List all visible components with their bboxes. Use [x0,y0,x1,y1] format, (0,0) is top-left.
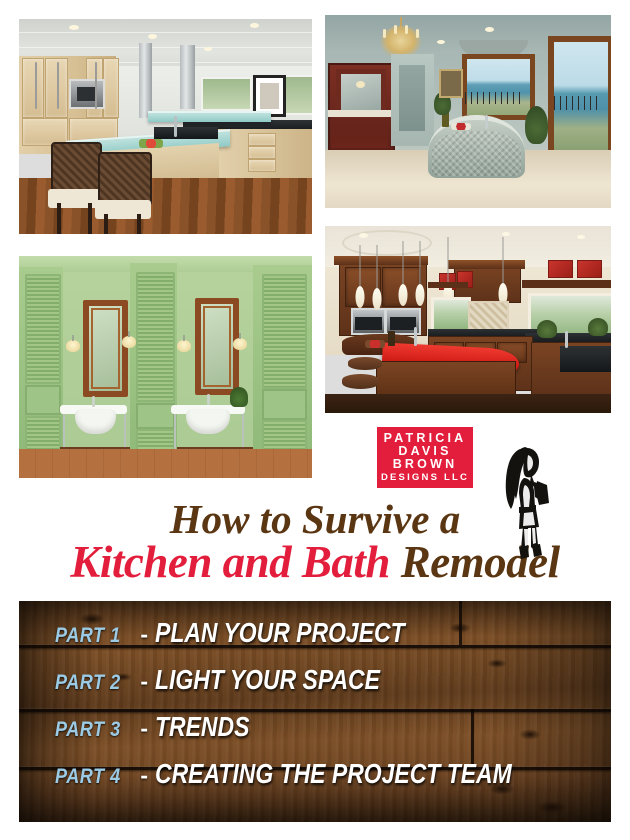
parts-wood-panel: PART 1 - PLAN YOUR PROJECT PART 2 - LIGH… [19,601,611,822]
pendant-light [354,245,366,316]
list-item[interactable]: PART 1 - PLAN YOUR PROJECT [55,617,595,664]
tile-floor [19,449,312,478]
window [431,297,471,333]
photo-modern-kitchen [19,19,312,234]
fruit-plate [451,123,471,130]
framed-art [439,69,463,98]
faucet-icon [174,116,177,138]
fruit-bowl [139,139,162,148]
bar-stool [98,152,148,234]
pedestal-sink [75,409,116,433]
range-hood [180,45,195,110]
balcony-railing [465,92,522,104]
logo-line-2: DAVIS [398,445,451,458]
title-kitchen-and-bath: Kitchen and Bath [70,537,390,587]
potted-plant [525,106,548,145]
part-label: PART 1 [55,624,121,648]
faucet-icon [207,394,210,405]
pendant-light [397,241,409,316]
range-hood [139,43,152,118]
wine-bottle-icon [388,331,395,346]
green-bathroom-scene [19,256,312,478]
fruit-bowl [365,340,385,347]
part-label: PART 3 [55,718,121,742]
louvered-door [136,272,175,403]
brand-logo[interactable]: PATRICIA DAVIS BROWN DESIGNS LLC [377,427,473,488]
red-kitchen-scene [325,226,611,413]
part-label: PART 2 [55,671,121,695]
list-item[interactable]: PART 3 - TRENDS [55,711,595,758]
part-separator: - [140,715,148,742]
ocean-window [462,54,535,120]
faucet-icon [565,331,568,348]
part-separator: - [140,621,148,648]
logo-line-1: PATRICIA [384,432,467,445]
window [283,75,312,116]
photo-green-bathroom [19,256,312,478]
woman-silhouette-icon [497,445,555,571]
faucet-icon [414,327,417,346]
bamboo-mirror [83,300,127,396]
bar-stool [51,142,98,228]
dark-wood-floor [325,394,611,413]
photo-red-kitchen [325,226,611,413]
bar-stool [342,374,379,389]
window [201,77,252,111]
potted-plant [230,387,248,407]
potted-plant [588,318,608,337]
part-title: TRENDS [155,711,249,743]
ocean-bathroom-scene [325,15,611,208]
part-separator: - [140,762,148,789]
photo-ocean-bathroom [325,15,611,208]
microwave-icon [69,79,105,109]
list-item[interactable]: PART 4 - CREATING THE PROJECT TEAM [55,758,595,805]
tile-backsplash [468,301,509,331]
poster-root: PATRICIA DAVIS BROWN DESIGNS LLC How to … [0,0,630,840]
part-label: PART 4 [55,765,121,789]
potted-plant [537,320,557,339]
modern-kitchen-scene [19,19,312,234]
louvered-door [262,274,307,389]
louvered-door [25,274,61,385]
part-separator: - [140,668,148,695]
farmhouse-sink [560,346,611,372]
part-title: PLAN YOUR PROJECT [155,617,405,649]
bar-stool [348,357,382,370]
part-title: CREATING THE PROJECT TEAM [155,758,512,790]
tub-faucet-icon [485,115,488,129]
faucet-icon [92,396,95,407]
pendant-light [371,245,383,320]
list-item[interactable]: PART 2 - LIGHT YOUR SPACE [55,664,595,711]
logo-line-3: BROWN [393,458,458,471]
part-title: LIGHT YOUR SPACE [155,664,380,696]
logo-line-4: DESIGNS LLC [381,473,469,483]
pendant-light [414,241,426,316]
parts-list: PART 1 - PLAN YOUR PROJECT PART 2 - LIGH… [55,617,595,805]
